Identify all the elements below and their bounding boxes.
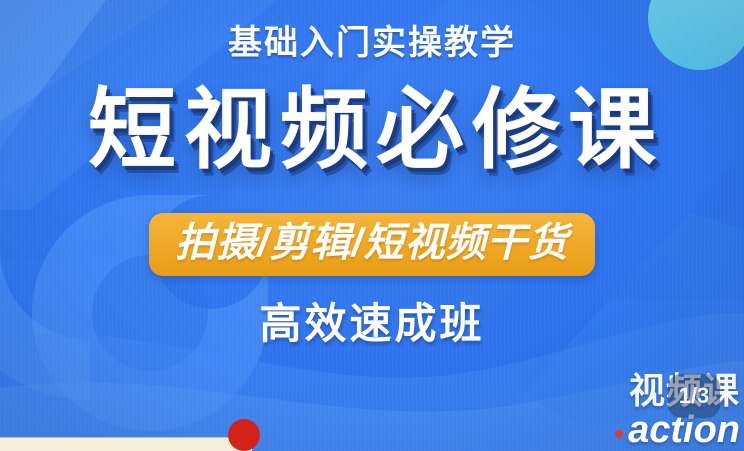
course-poster: 基础入门实操教学 短视频必修课 拍摄/剪辑/短视频干货 高效速成班 视频课 ac… [0,0,744,451]
highlight-band-wrapper: 拍摄/剪辑/短视频干货 [0,213,744,276]
bottom-red-circle [228,419,260,451]
page-indicator-text: 1/3 [679,383,710,409]
poster-content: 基础入门实操教学 短视频必修课 拍摄/剪辑/短视频干货 高效速成班 视频课 ac… [0,0,744,451]
poster-main-title: 短视频必修课 [0,86,744,174]
bottom-cream-strip [0,437,252,451]
poster-subtitle: 高效速成班 [0,303,744,345]
page-indicator-badge: 1/3 [668,374,720,418]
kicker-text: 基础入门实操教学 [0,26,744,60]
highlight-band-text: 拍摄/剪辑/短视频干货 [175,222,568,264]
highlight-band: 拍摄/剪辑/短视频干货 [149,213,594,276]
red-dot-icon [615,430,623,438]
